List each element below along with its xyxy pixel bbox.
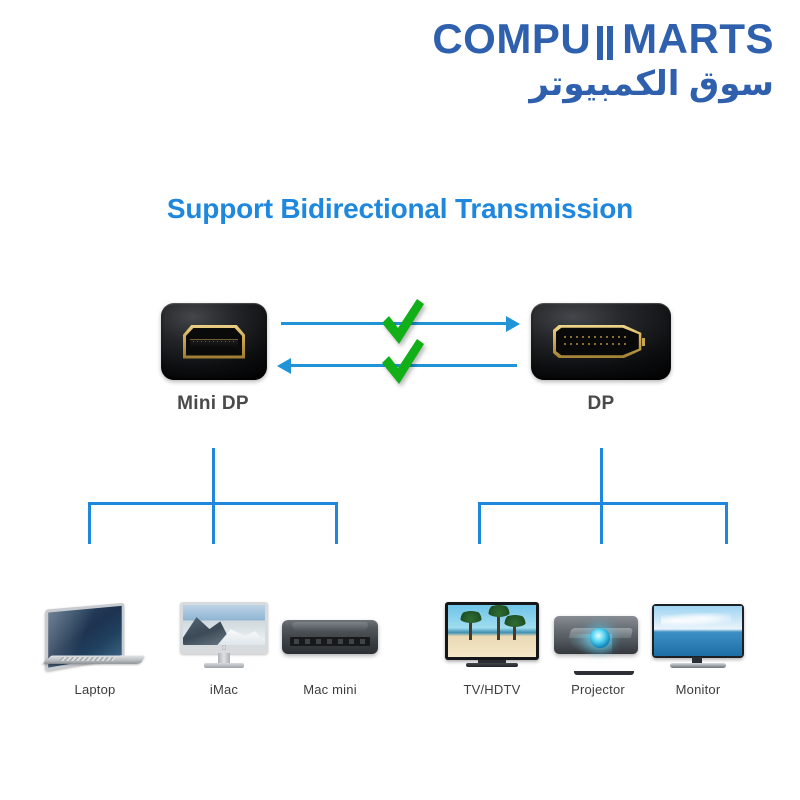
mini-dp-label: Mini DP — [133, 393, 293, 415]
left-tree-drop-1 — [88, 502, 91, 544]
brand-name-right: MARTS — [622, 18, 774, 60]
device-label-tv: TV/HDTV — [440, 682, 544, 697]
device-imac:  iMac — [174, 598, 274, 697]
page-title: Support Bidirectional Transmission — [0, 193, 800, 225]
device-tv: TV/HDTV — [440, 598, 544, 697]
mini-dp-connector — [161, 303, 267, 380]
brand-bars-icon — [597, 19, 613, 61]
dp-label: DP — [521, 393, 681, 415]
right-tree-drop-1 — [478, 502, 481, 544]
device-label-laptop: Laptop — [39, 682, 151, 697]
left-tree-drop-3 — [335, 502, 338, 544]
arrow-right-icon — [506, 316, 520, 332]
brand-name-left: COMPU — [432, 18, 591, 60]
device-label-projector: Projector — [546, 682, 650, 697]
device-laptop: Laptop — [39, 598, 151, 697]
dp-connector — [531, 303, 671, 380]
brand-name-arabic: سوق الكمبيوتر — [454, 67, 774, 101]
check-mark-icon-bottom — [379, 337, 425, 385]
displayport-port-icon — [553, 324, 649, 360]
mac-mini-icon — [278, 598, 382, 676]
brand-logo: COMPU MARTS سوق الكمبيوتر — [454, 18, 774, 101]
right-tree-bar — [478, 502, 728, 505]
left-tree-drop-2 — [212, 502, 215, 544]
device-mac-mini: Mac mini — [278, 598, 382, 697]
tv-icon — [440, 598, 544, 676]
laptop-icon — [39, 598, 151, 676]
device-projector: Projector — [546, 598, 650, 697]
projector-icon — [546, 598, 650, 676]
device-monitor: Monitor — [646, 598, 750, 697]
imac-icon:  — [174, 598, 274, 676]
device-label-mac-mini: Mac mini — [278, 682, 382, 697]
right-tree-drop-2 — [600, 502, 603, 544]
device-label-imac: iMac — [174, 682, 274, 697]
arrow-left-icon — [277, 358, 291, 374]
right-tree-stem — [600, 448, 603, 505]
monitor-icon — [646, 598, 750, 676]
mini-displayport-port-icon — [183, 325, 245, 359]
right-tree-drop-3 — [725, 502, 728, 544]
left-tree-stem — [212, 448, 215, 505]
brand-wordmark: COMPU MARTS — [454, 18, 774, 60]
device-label-monitor: Monitor — [646, 682, 750, 697]
